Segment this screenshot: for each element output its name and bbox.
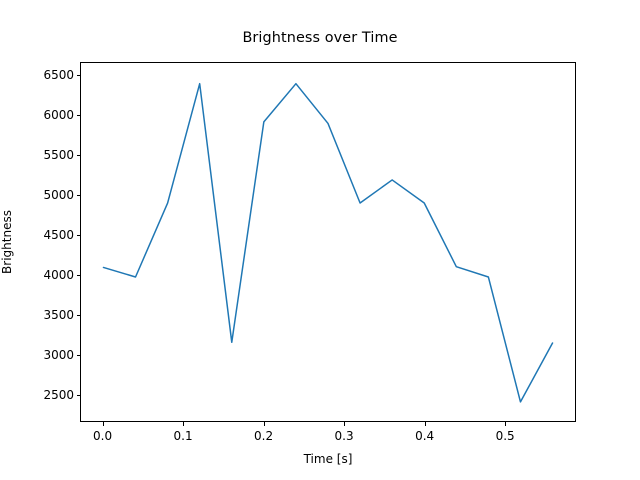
x-tick-mark bbox=[425, 422, 426, 426]
y-tick-mark bbox=[77, 355, 81, 356]
y-tick-mark bbox=[77, 315, 81, 316]
x-tick-mark bbox=[505, 422, 506, 426]
x-tick-label: 0.4 bbox=[415, 429, 434, 443]
x-tick-label: 0.0 bbox=[93, 429, 112, 443]
y-tick-mark bbox=[77, 195, 81, 196]
chart-title: Brightness over Time bbox=[0, 30, 640, 46]
y-tick-label: 5000 bbox=[26, 188, 74, 202]
y-tick-mark bbox=[77, 395, 81, 396]
y-tick-label: 3000 bbox=[26, 348, 74, 362]
y-tick-mark bbox=[77, 275, 81, 276]
y-tick-label: 2500 bbox=[26, 388, 74, 402]
chart-figure: Brightness over Time 2500300035004000450… bbox=[0, 0, 640, 480]
y-tick-mark bbox=[77, 235, 81, 236]
x-tick-label: 0.2 bbox=[254, 429, 273, 443]
x-axis-label: Time [s] bbox=[80, 452, 576, 466]
x-tick-mark bbox=[264, 422, 265, 426]
y-tick-mark bbox=[77, 155, 81, 156]
x-tick-label: 0.5 bbox=[496, 429, 515, 443]
y-axis-label: Brightness bbox=[0, 210, 14, 274]
y-tick-label: 3500 bbox=[26, 308, 74, 322]
x-tick-mark bbox=[103, 422, 104, 426]
plot-axes bbox=[80, 62, 576, 422]
y-tick-mark bbox=[77, 75, 81, 76]
brightness-series-line bbox=[103, 84, 552, 402]
x-tick-mark bbox=[344, 422, 345, 426]
y-tick-label: 6000 bbox=[26, 108, 74, 122]
line-plot-svg bbox=[81, 63, 575, 421]
y-tick-mark bbox=[77, 115, 81, 116]
y-tick-label: 5500 bbox=[26, 148, 74, 162]
y-tick-label: 6500 bbox=[26, 68, 74, 82]
x-tick-label: 0.1 bbox=[174, 429, 193, 443]
y-tick-label: 4000 bbox=[26, 268, 74, 282]
x-tick-label: 0.3 bbox=[335, 429, 354, 443]
x-tick-mark bbox=[183, 422, 184, 426]
y-tick-label: 4500 bbox=[26, 228, 74, 242]
